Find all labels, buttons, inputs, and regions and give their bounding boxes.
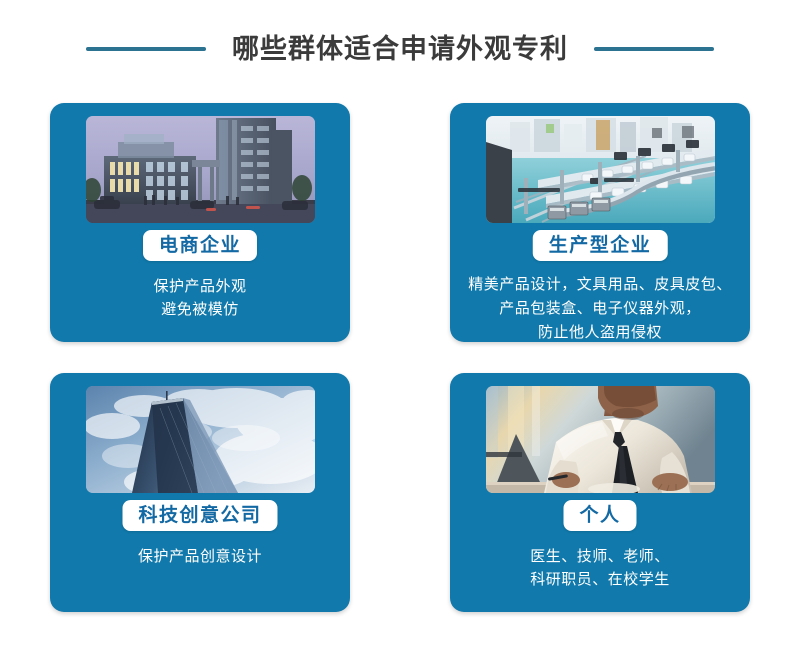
card-label-pill[interactable]: 科技创意公司 bbox=[122, 500, 277, 531]
desc-line: 产品包装盒、电子仪器外观， bbox=[456, 297, 744, 321]
card-label-pill[interactable]: 生产型企业 bbox=[533, 230, 668, 261]
desc-line: 精美产品设计，文具用品、皮具皮包、 bbox=[456, 273, 744, 297]
card-description: 保护产品外观 避免被模仿 bbox=[60, 275, 340, 321]
title-rule-right bbox=[594, 47, 714, 51]
card-label-text: 个人 bbox=[579, 506, 620, 525]
page-title: 哪些群体适合申请外观专利 bbox=[232, 36, 568, 63]
desc-line: 医生、技师、老师、 bbox=[460, 545, 740, 568]
card-individual[interactable]: 个人 医生、技师、老师、 科研职员、在校学生 bbox=[450, 373, 750, 612]
card-description: 精美产品设计，文具用品、皮具皮包、 产品包装盒、电子仪器外观， 防止他人盗用侵权 bbox=[456, 273, 744, 342]
card-label-pill[interactable]: 电商企业 bbox=[143, 230, 257, 261]
title-rule-left bbox=[86, 47, 206, 51]
desc-line: 防止他人盗用侵权 bbox=[456, 321, 744, 342]
card-label-text: 电商企业 bbox=[159, 236, 241, 255]
desc-line: 保护产品外观 bbox=[60, 275, 340, 298]
desc-line: 科研职员、在校学生 bbox=[460, 568, 740, 591]
factory-conveyor-line-photo bbox=[486, 116, 715, 223]
office-building-dusk-photo bbox=[86, 116, 315, 223]
desc-line: 保护产品创意设计 bbox=[60, 545, 340, 568]
card-description: 保护产品创意设计 bbox=[60, 545, 340, 568]
card-label-text: 科技创意公司 bbox=[138, 506, 261, 525]
card-label-pill[interactable]: 个人 bbox=[563, 500, 636, 531]
card-ecommerce-enterprise[interactable]: 电商企业 保护产品外观 避免被模仿 bbox=[50, 103, 350, 342]
card-description: 医生、技师、老师、 科研职员、在校学生 bbox=[460, 545, 740, 591]
infographic-page: 哪些群体适合申请外观专利 bbox=[0, 0, 800, 648]
card-tech-creative-company[interactable]: 科技创意公司 保护产品创意设计 bbox=[50, 373, 350, 612]
businessman-at-desk-photo bbox=[486, 386, 715, 493]
skyscraper-clouds-photo bbox=[86, 386, 315, 493]
page-header: 哪些群体适合申请外观专利 bbox=[0, 26, 800, 72]
card-label-text: 生产型企业 bbox=[549, 236, 652, 255]
card-grid: 电商企业 保护产品外观 避免被模仿 bbox=[50, 103, 750, 613]
card-manufacturing-enterprise[interactable]: 生产型企业 精美产品设计，文具用品、皮具皮包、 产品包装盒、电子仪器外观， 防止… bbox=[450, 103, 750, 342]
desc-line: 避免被模仿 bbox=[60, 298, 340, 321]
